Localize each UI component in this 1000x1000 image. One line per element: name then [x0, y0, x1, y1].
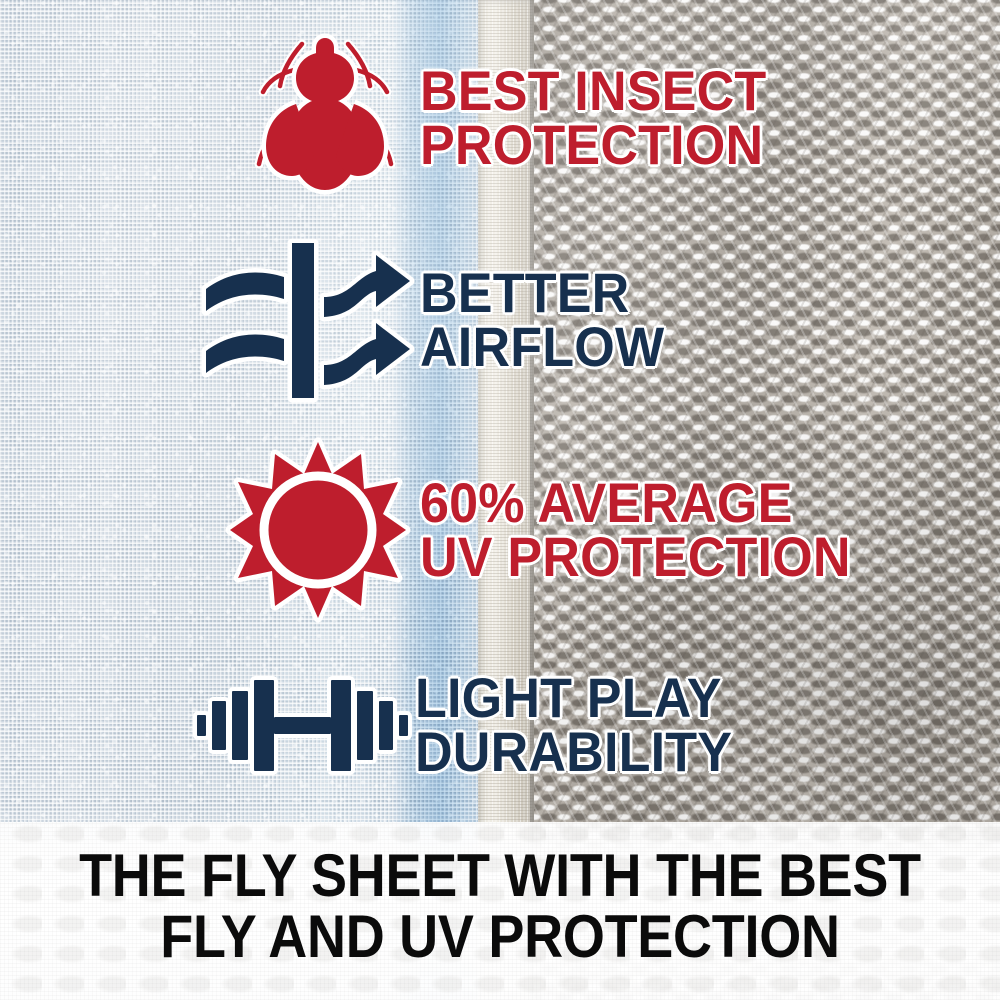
feature-item-insect: BEST INSECT PROTECTION [230, 30, 1000, 205]
feature-label-line: LIGHT PLAY [415, 671, 732, 725]
feature-label-durability: LIGHT PLAY DURABILITY [415, 671, 732, 779]
feature-label-line: DURABILITY [415, 725, 732, 779]
fly-icon-cell [230, 30, 420, 205]
dumbbell-icon [195, 673, 410, 778]
feature-item-airflow: BETTER AIRFLOW [195, 240, 1000, 400]
banner-headline-line: FLY AND UV PROTECTION [50, 906, 950, 967]
feature-label-line: BEST INSECT [420, 64, 766, 118]
feature-list: BEST INSECT PROTECTION [0, 0, 1000, 822]
banner-headline-line: THE FLY SHEET WITH THE BEST [50, 845, 950, 906]
feature-item-uv: 60% AVERAGE UV PROTECTION [215, 440, 1000, 620]
product-infographic: BEST INSECT PROTECTION [0, 0, 1000, 1000]
sun-icon [228, 440, 408, 620]
feature-label-line: PROTECTION [420, 118, 766, 172]
feature-label-line: UV PROTECTION [420, 530, 851, 584]
feature-item-durability: LIGHT PLAY DURABILITY [190, 655, 1000, 795]
feature-label-line: 60% AVERAGE [420, 476, 851, 530]
airflow-icon-cell [195, 243, 420, 398]
banner-headline: THE FLY SHEET WITH THE BEST FLY AND UV P… [0, 845, 1000, 967]
dumbbell-icon-cell [190, 673, 415, 778]
sun-icon-cell [215, 440, 420, 620]
fly-icon [250, 30, 400, 205]
feature-label-insect: BEST INSECT PROTECTION [420, 64, 766, 172]
feature-label-airflow: BETTER AIRFLOW [420, 266, 664, 374]
feature-label-line: AIRFLOW [420, 320, 664, 374]
feature-label-line: BETTER [420, 266, 664, 320]
feature-label-uv: 60% AVERAGE UV PROTECTION [420, 476, 851, 584]
airflow-icon [200, 243, 415, 398]
